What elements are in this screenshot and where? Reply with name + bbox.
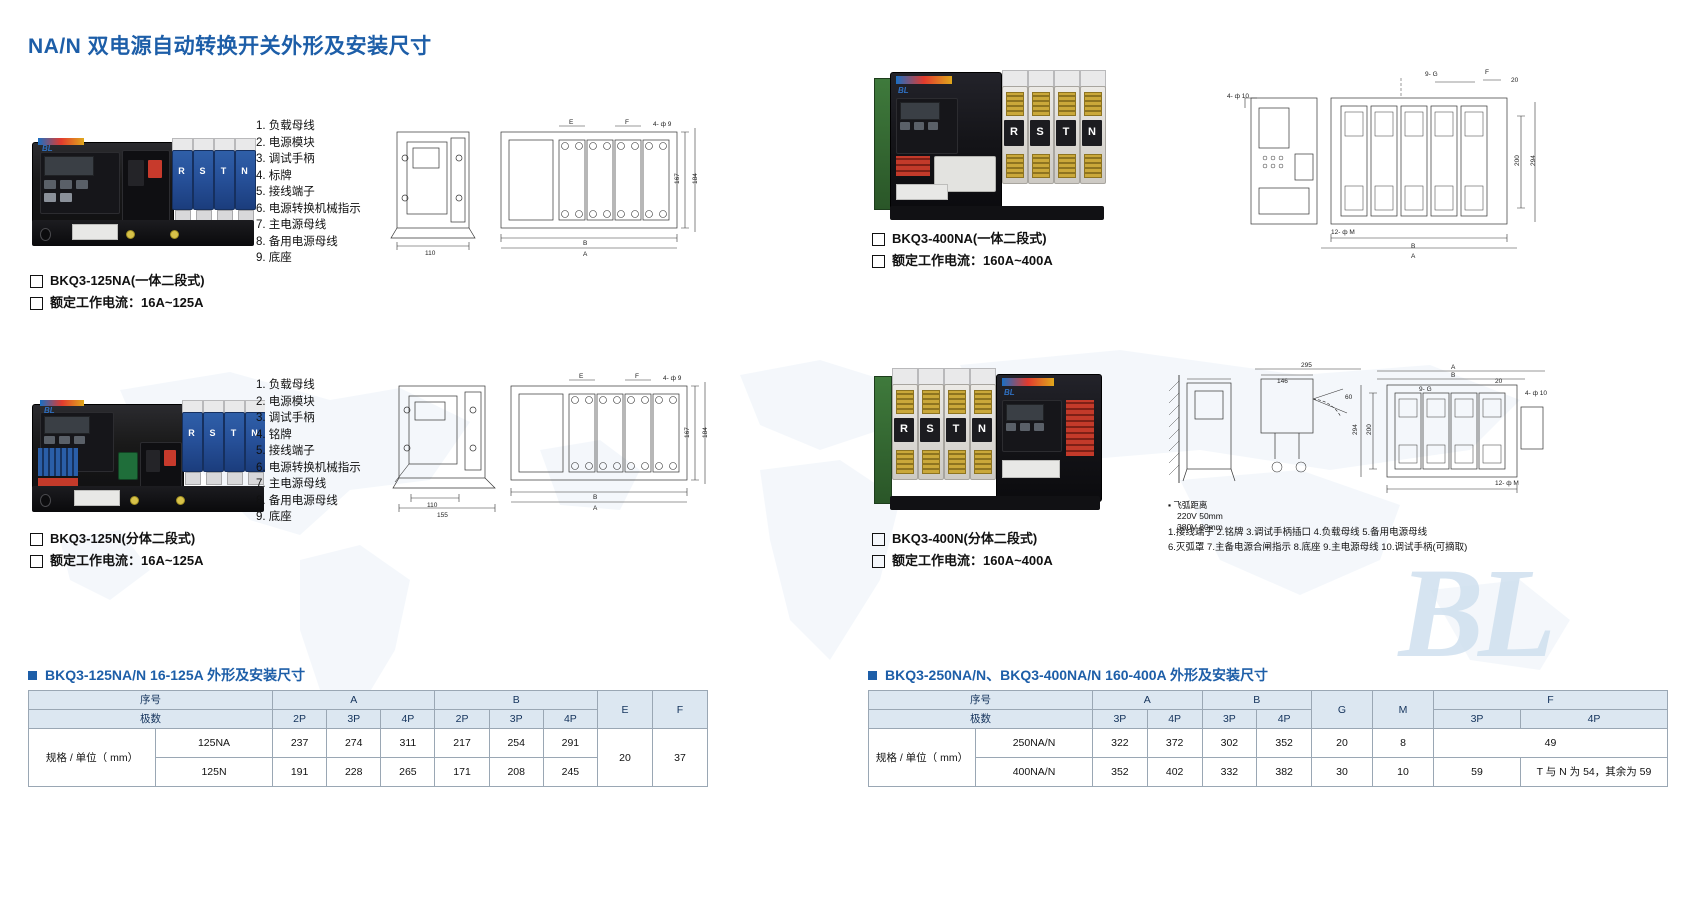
th-m: M — [1373, 691, 1434, 729]
caption-line: BKQ3-400NA(一体二段式) — [892, 228, 1047, 250]
checkbox-icon[interactable] — [872, 255, 885, 268]
svg-text:F: F — [635, 373, 639, 380]
legend-item: 8. 备用电源母线 — [256, 493, 361, 510]
legend-item: 8. 备用电源母线 — [256, 234, 361, 251]
svg-text:B: B — [1411, 243, 1415, 250]
cell-b-4p: 291 — [543, 729, 597, 758]
section-heading-text: BKQ3-250NA/N、BKQ3-400NA/N 160-400A 外形及安装… — [885, 665, 1268, 685]
cell-b-3p: 332 — [1202, 758, 1257, 787]
spec-table-right: 序号 A B G M F 极数 3P 4P 3P 4P 3P 4P 规格 / 单… — [868, 690, 1668, 787]
th-a-2p: 2P — [273, 710, 327, 729]
pole-label-s: S — [918, 423, 942, 435]
table-row: 规格 / 单位（ mm） 125NA 237 274 311 217 254 2… — [29, 729, 708, 758]
th-a: A — [1093, 691, 1203, 710]
cell-b-3p: 208 — [489, 758, 543, 787]
bullet-square-icon — [28, 671, 37, 680]
product-photo-bkq3-125na: BL R S T N — [30, 120, 260, 260]
caption-line: 额定工作电流：16A~125A — [50, 292, 204, 314]
th-f-3p: 3P — [1434, 710, 1521, 729]
checkbox-icon[interactable] — [872, 555, 885, 568]
arc-note-title: 飞弧距离 — [1173, 500, 1207, 510]
legend-list-bkq3-400n: 1.接线端子 2.铭牌 3.调试手柄插口 4.负载母线 5.备用电源母线 6.灭… — [1168, 525, 1467, 555]
svg-text:9- G: 9- G — [1425, 71, 1438, 78]
cell-model: 125NA — [156, 729, 273, 758]
pole-label-r: R — [892, 423, 916, 435]
cell-a-2p: 237 — [273, 729, 327, 758]
caption-line: 额定工作电流：16A~125A — [50, 550, 204, 572]
legend-item: 9. 底座 — [256, 509, 361, 526]
caption-bkq3-125na: BKQ3-125NA(一体二段式) 额定工作电流：16A~125A — [30, 270, 205, 314]
checkbox-icon[interactable] — [30, 297, 43, 310]
legend-item: 5. 接线端子 — [256, 184, 361, 201]
svg-text:167: 167 — [674, 173, 681, 184]
th-serial: 序号 — [869, 691, 1093, 710]
svg-text:20: 20 — [1495, 378, 1503, 385]
drawing-bkq3-125na: 110 B A 167 184 E F 4- ф 9 — [385, 118, 705, 268]
svg-text:4- ф 10: 4- ф 10 — [1525, 390, 1547, 397]
pole-label-t: T — [224, 428, 243, 438]
th-a-3p: 3P — [327, 710, 381, 729]
legend-item: 9. 底座 — [256, 250, 361, 267]
product-photo-bkq3-125n: BL R S T N — [30, 378, 265, 528]
watermark-letters: BL — [1398, 540, 1550, 687]
cell-m: 10 — [1373, 758, 1434, 787]
th-a: A — [273, 691, 435, 710]
cell-a-3p: 274 — [327, 729, 381, 758]
caption-line: BKQ3-125NA(一体二段式) — [50, 270, 205, 292]
svg-text:12- ф M: 12- ф M — [1331, 229, 1355, 236]
caption-bkq3-400na: BKQ3-400NA(一体二段式) 额定工作电流：160A~400A — [872, 228, 1053, 272]
legend-item: 5. 接线端子 — [256, 443, 361, 460]
dim-110: 110 — [425, 250, 436, 257]
svg-text:9- G: 9- G — [1419, 386, 1432, 393]
cell-g: 30 — [1312, 758, 1373, 787]
drawing-bkq3-400n: 295 146 200 294 A B 9- G 20 4- ф 10 12- … — [1165, 355, 1565, 515]
th-b-3p: 3P — [1202, 710, 1257, 729]
th-b: B — [1202, 691, 1312, 710]
svg-text:146: 146 — [1277, 378, 1288, 385]
caption-bkq3-125n: BKQ3-125N(分体二段式) 额定工作电流：16A~125A — [30, 528, 204, 572]
th-a-4p: 4P — [381, 710, 435, 729]
th-e: E — [598, 691, 653, 729]
svg-text:294: 294 — [1352, 424, 1359, 435]
svg-text:60: 60 — [1345, 394, 1353, 401]
cell-f-4p: T 与 N 为 54，其余为 59 — [1521, 758, 1668, 787]
cell-a-3p: 322 — [1093, 729, 1148, 758]
pole-label-s: S — [1028, 126, 1052, 138]
legend-item: 1. 负载母线 — [256, 377, 361, 394]
legend-item: 7. 主电源母线 — [256, 476, 361, 493]
legend-item: 6. 电源转换机械指示 — [256, 460, 361, 477]
cell-a-4p: 265 — [381, 758, 435, 787]
cell-b-3p: 302 — [1202, 729, 1257, 758]
pole-label-r: R — [182, 428, 201, 438]
cell-model: 125N — [156, 758, 273, 787]
pole-label-n: N — [235, 166, 254, 176]
svg-text:A: A — [583, 251, 588, 258]
pole-label-t: T — [214, 166, 233, 176]
svg-text:B: B — [583, 240, 587, 247]
cell-g: 20 — [1312, 729, 1373, 758]
legend-item: 7. 主电源母线 — [256, 217, 361, 234]
pole-label-n: N — [1080, 126, 1104, 138]
svg-text:167: 167 — [684, 427, 691, 438]
drawing-bkq3-400na: B A 200 294 9- G F 20 4- ф 10 12- ф M — [1225, 62, 1565, 262]
cell-m: 8 — [1373, 729, 1434, 758]
cell-model: 400NA/N — [976, 758, 1093, 787]
svg-text:184: 184 — [702, 427, 709, 438]
pole-label-r: R — [1002, 126, 1026, 138]
datasheet-page: BL NA/N 双电源自动转换开关外形及安装尺寸 BL R — [0, 0, 1700, 916]
cell-e: 20 — [598, 729, 653, 787]
cell-a-4p: 311 — [381, 729, 435, 758]
svg-text:F: F — [1485, 69, 1489, 76]
checkbox-icon[interactable] — [30, 555, 43, 568]
svg-text:F: F — [625, 119, 629, 126]
cell-unit-label: 规格 / 单位（ mm） — [869, 729, 976, 787]
th-f-4p: 4P — [1521, 710, 1668, 729]
th-f: F — [1434, 691, 1668, 710]
caption-line: 额定工作电流：160A~400A — [892, 550, 1053, 572]
svg-text:B: B — [593, 494, 597, 501]
table-row: 400NA/N 352 402 332 382 30 10 59 T 与 N 为… — [869, 758, 1668, 787]
product-photo-bkq3-400n: R S T N BL — [872, 360, 1112, 520]
cell-model: 250NA/N — [976, 729, 1093, 758]
table-header-row: 序号 A B E F — [29, 691, 708, 710]
section-heading-right-table: BKQ3-250NA/N、BKQ3-400NA/N 160-400A 外形及安装… — [868, 665, 1268, 685]
th-g: G — [1312, 691, 1373, 729]
cell-b-3p: 254 — [489, 729, 543, 758]
cell-b-4p: 245 — [543, 758, 597, 787]
cell-b-2p: 217 — [435, 729, 489, 758]
legend-list-bkq3-125na: 1. 负载母线 2. 电源模块 3. 调试手柄 4. 标牌 5. 接线端子 6.… — [256, 118, 361, 267]
th-a-4p: 4P — [1147, 710, 1202, 729]
svg-text:B: B — [1451, 372, 1455, 379]
svg-text:294: 294 — [1530, 155, 1537, 166]
pole-label-s: S — [203, 428, 222, 438]
pole-label-t: T — [1054, 126, 1078, 138]
table-header-row: 序号 A B G M F — [869, 691, 1668, 710]
legend-item: 4. 铭牌 — [256, 427, 361, 444]
section-heading-text: BKQ3-125NA/N 16-125A 外形及安装尺寸 — [45, 665, 305, 685]
th-b: B — [435, 691, 598, 710]
cell-b-4p: 382 — [1257, 758, 1312, 787]
cell-a-3p: 352 — [1093, 758, 1148, 787]
checkbox-icon[interactable] — [872, 533, 885, 546]
legend-item: 2. 电源模块 — [256, 394, 361, 411]
th-b-4p: 4P — [543, 710, 597, 729]
cell-a-4p: 372 — [1147, 729, 1202, 758]
svg-text:A: A — [593, 505, 598, 512]
page-title: NA/N 双电源自动转换开关外形及安装尺寸 — [28, 30, 432, 60]
th-poles: 极数 — [869, 710, 1093, 729]
pole-label-n: N — [970, 423, 994, 435]
product-photo-bkq3-400na: BL R S T — [872, 62, 1112, 227]
cell-b-2p: 171 — [435, 758, 489, 787]
svg-text:E: E — [579, 373, 584, 380]
legend-item: 3. 调试手柄 — [256, 410, 361, 427]
cell-f: 49 — [1434, 729, 1668, 758]
legend-item: 3. 调试手柄 — [256, 151, 361, 168]
svg-text:155: 155 — [437, 512, 448, 519]
svg-text:200: 200 — [1366, 424, 1373, 435]
cell-f: 37 — [653, 729, 708, 787]
cell-b-4p: 352 — [1257, 729, 1312, 758]
table-row: 规格 / 单位（ mm） 250NA/N 322 372 302 352 20 … — [869, 729, 1668, 758]
caption-line: 额定工作电流：160A~400A — [892, 250, 1053, 272]
pole-label-r: R — [172, 166, 191, 176]
svg-text:200: 200 — [1514, 155, 1521, 166]
svg-text:A: A — [1411, 253, 1416, 260]
legend-line: 6.灭弧罩 7.主备电源合闸指示 8.底座 9.主电源母线 10.调试手柄(可摘… — [1168, 540, 1467, 555]
legend-list-bkq3-125n: 1. 负载母线 2. 电源模块 3. 调试手柄 4. 铭牌 5. 接线端子 6.… — [256, 377, 361, 526]
section-heading-left-table: BKQ3-125NA/N 16-125A 外形及安装尺寸 — [28, 665, 305, 685]
cell-f-3p: 59 — [1434, 758, 1521, 787]
caption-bkq3-400n: BKQ3-400N(分体二段式) 额定工作电流：160A~400A — [872, 528, 1053, 572]
drawing-bkq3-125n: 110 155 B A 167 184 E F 4- ф 9 — [385, 370, 715, 520]
pole-label-t: T — [944, 423, 968, 435]
legend-item: 4. 标牌 — [256, 168, 361, 185]
cell-unit-label: 规格 / 单位（ mm） — [29, 729, 156, 787]
svg-text:4- ф 9: 4- ф 9 — [653, 121, 672, 128]
checkbox-icon[interactable] — [872, 233, 885, 246]
svg-text:20: 20 — [1511, 77, 1519, 84]
cell-a-3p: 228 — [327, 758, 381, 787]
svg-text:295: 295 — [1301, 362, 1312, 369]
legend-item: 1. 负载母线 — [256, 118, 361, 135]
th-b-3p: 3P — [489, 710, 543, 729]
spec-table-left: 序号 A B E F 极数 2P 3P 4P 2P 3P 4P 规格 / 单位（… — [28, 690, 708, 787]
caption-line: BKQ3-125N(分体二段式) — [50, 528, 195, 550]
svg-text:4- ф 9: 4- ф 9 — [663, 375, 682, 382]
checkbox-icon[interactable] — [30, 275, 43, 288]
svg-text:4- ф 10: 4- ф 10 — [1227, 93, 1249, 100]
legend-item: 6. 电源转换机械指示 — [256, 201, 361, 218]
svg-text:E: E — [569, 119, 574, 126]
bullet-square-icon — [868, 671, 877, 680]
th-poles: 极数 — [29, 710, 273, 729]
pole-label-s: S — [193, 166, 212, 176]
th-b-4p: 4P — [1257, 710, 1312, 729]
arc-note-row: 220V 50mm — [1168, 511, 1223, 522]
th-f: F — [653, 691, 708, 729]
svg-text:12- ф M: 12- ф M — [1495, 480, 1519, 487]
legend-line: 1.接线端子 2.铭牌 3.调试手柄插口 4.负载母线 5.备用电源母线 — [1168, 525, 1467, 540]
legend-item: 2. 电源模块 — [256, 135, 361, 152]
th-a-3p: 3P — [1093, 710, 1148, 729]
checkbox-icon[interactable] — [30, 533, 43, 546]
table-header-row: 极数 3P 4P 3P 4P 3P 4P — [869, 710, 1668, 729]
caption-line: BKQ3-400N(分体二段式) — [892, 528, 1037, 550]
svg-text:110: 110 — [427, 502, 438, 509]
cell-a-4p: 402 — [1147, 758, 1202, 787]
svg-text:184: 184 — [692, 173, 699, 184]
th-b-2p: 2P — [435, 710, 489, 729]
th-serial: 序号 — [29, 691, 273, 710]
cell-a-2p: 191 — [273, 758, 327, 787]
svg-text:A: A — [1451, 364, 1456, 371]
